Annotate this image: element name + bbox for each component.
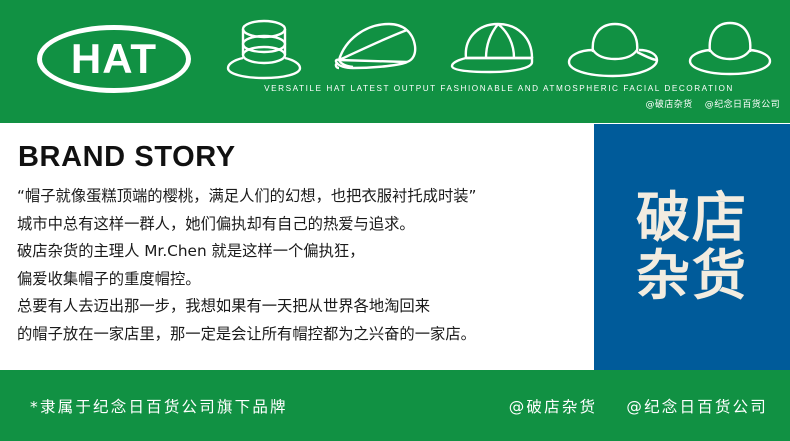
- hat-icon-row: [218, 14, 778, 84]
- header-banner: HAT: [0, 0, 790, 123]
- header-tagline: VERSATILE HAT LATEST OUTPUT FASHIONABLE …: [218, 84, 780, 93]
- top-hat-icon: [218, 16, 310, 82]
- hat-logo-text: HAT: [71, 38, 157, 80]
- header-handles: @破店杂货 @纪念日百货公司: [637, 97, 780, 110]
- page-title: BRAND STORY: [18, 143, 236, 172]
- footer-banner: *隶属于纪念日百货公司旗下品牌 @破店杂货 @纪念日百货公司: [0, 370, 790, 441]
- brand-story-text: “帽子就像蛋糕顶端的樱桃，满足人们的幻想，也把衣服衬托成时装” 城市中总有这样一…: [17, 183, 577, 348]
- header-handle-2: @纪念日百货公司: [705, 100, 780, 110]
- brand-logo-panel: 破店 杂货: [594, 124, 790, 370]
- brand-logo-line-1: 破店: [633, 189, 751, 247]
- footer-inner: *隶属于纪念日百货公司旗下品牌 @破店杂货 @纪念日百货公司: [0, 370, 790, 441]
- wide-brim-hat-icon: [561, 16, 665, 82]
- footer-note: *隶属于纪念日百货公司旗下品牌: [30, 395, 288, 417]
- header-handle-1: @破店杂货: [646, 100, 693, 110]
- footer-handles: @破店杂货 @纪念日百货公司: [509, 395, 768, 417]
- brand-logo-line-2: 杂货: [633, 247, 751, 305]
- brand-logo-text: 破店 杂货: [633, 189, 751, 305]
- story-line: 的帽子放在一家店里，那一定是会让所有帽控都为之兴奋的一家店。: [17, 321, 577, 349]
- story-line: “帽子就像蛋糕顶端的樱桃，满足人们的幻想，也把衣服衬托成时装”: [17, 183, 577, 211]
- story-line: 破店杂货的主理人 Mr.Chen 就是这样一个偏执狂，: [17, 238, 577, 266]
- footer-handle-2: @纪念日百货公司: [626, 398, 768, 416]
- story-line: 城市中总有这样一群人，她们偏执却有自己的热爱与追求。: [17, 211, 577, 239]
- flat-cap-icon: [327, 16, 427, 82]
- bowler-hat-icon: [682, 16, 778, 82]
- footer-handle-1: @破店杂货: [509, 398, 598, 416]
- brand-story-poster: HAT: [0, 0, 790, 441]
- hat-logo: HAT: [37, 25, 191, 93]
- story-line: 总要有人去迈出那一步，我想如果有一天把从世界各地淘回来: [17, 293, 577, 321]
- story-line: 偏爱收集帽子的重度帽控。: [17, 266, 577, 294]
- baseball-cap-icon: [444, 16, 544, 82]
